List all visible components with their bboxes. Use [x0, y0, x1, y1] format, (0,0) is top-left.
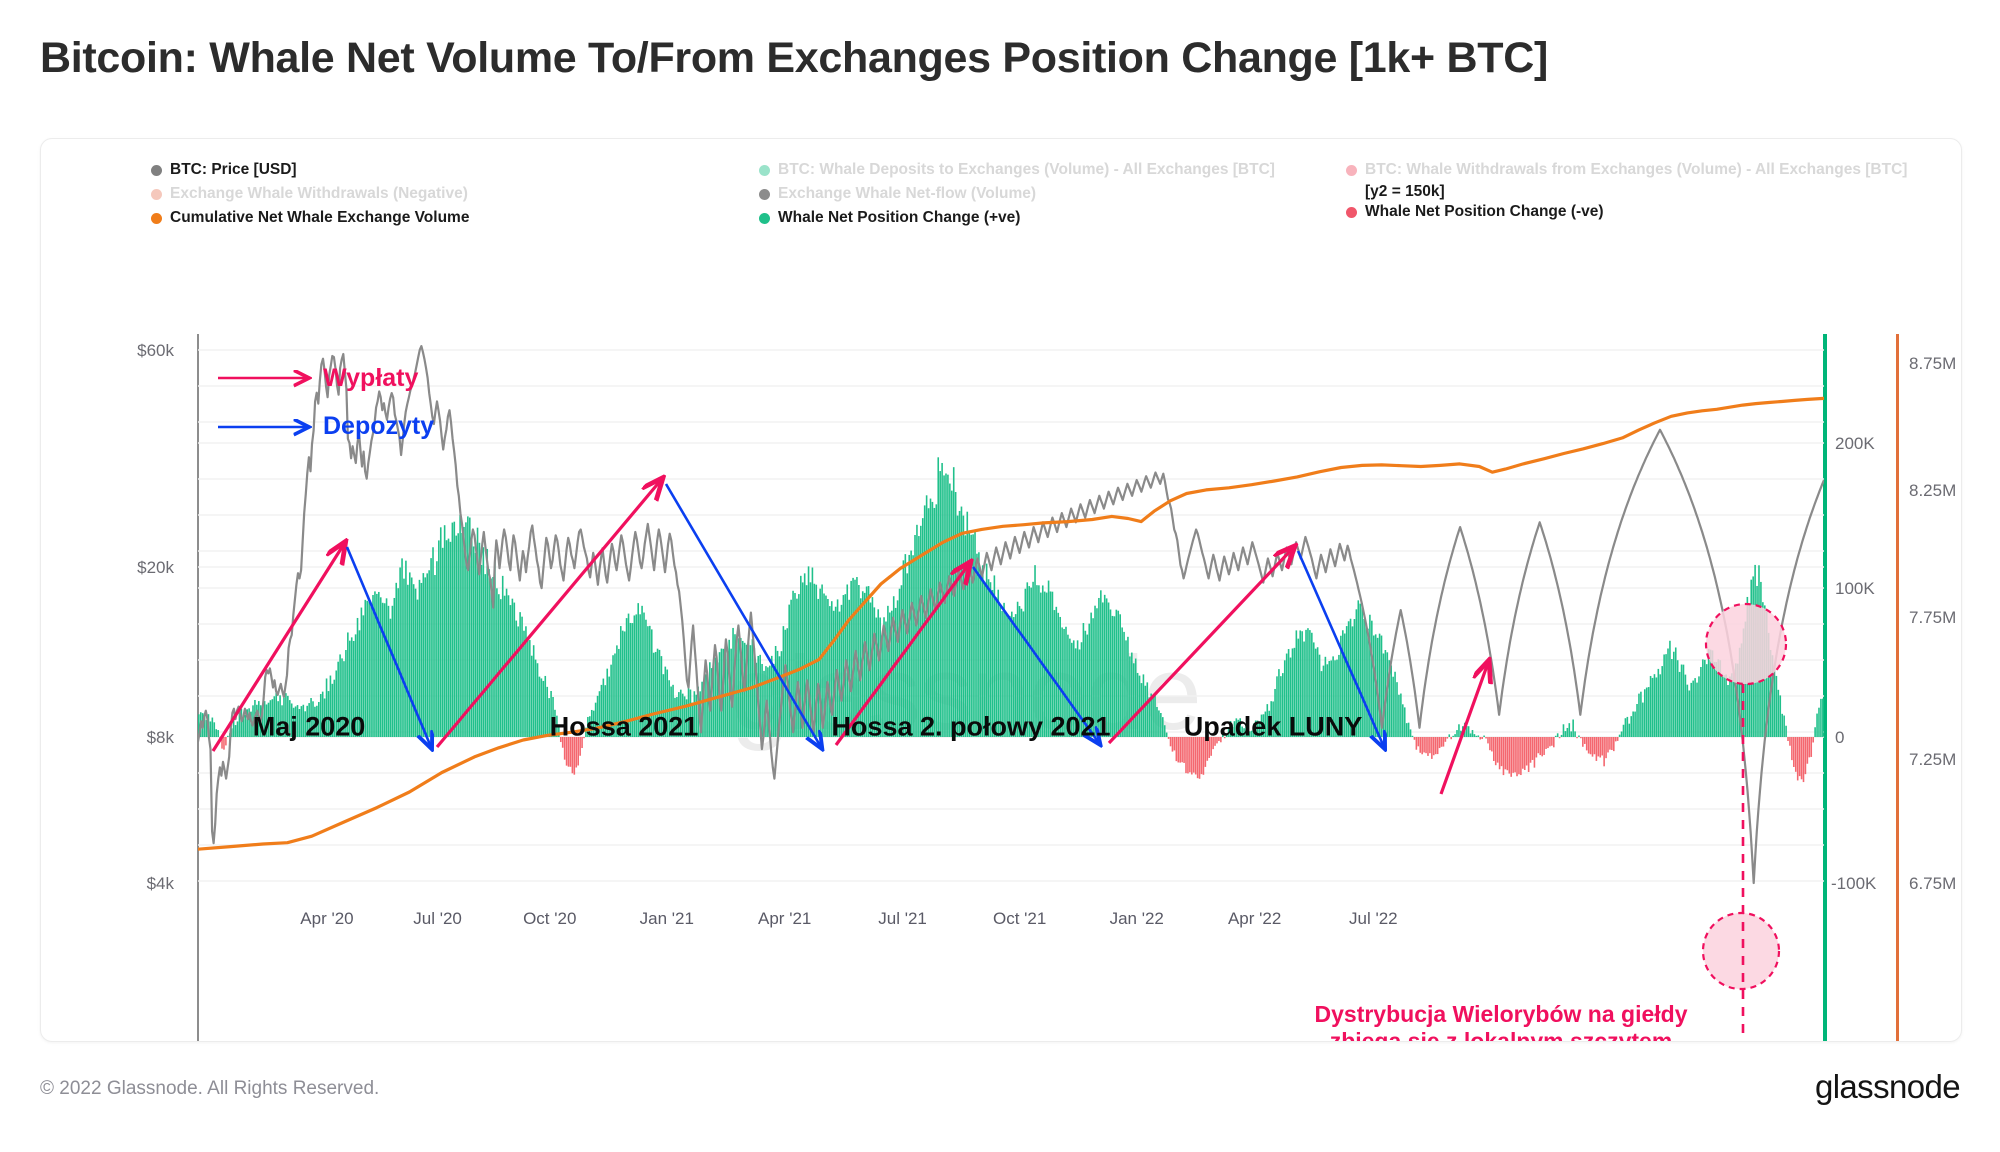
- chart-svg: [198, 334, 1824, 1042]
- legend-dot-whale-net-position-change-negative: [1346, 207, 1357, 218]
- y-tick-r2-1: 8.25M: [1909, 481, 1956, 501]
- legend-column-2: BTC: Whale Deposits to Exchanges (Volume…: [759, 159, 1275, 231]
- legend-dot-exchange-whale-netflow: [759, 189, 770, 200]
- legend-dot-whale-withdrawals: [1346, 165, 1357, 176]
- x-tick-4: Apr '21: [758, 909, 811, 929]
- annotation-key-label-withdrawals: Wypłaty: [323, 364, 418, 393]
- legend-item-whale-net-position-change-negative[interactable]: Whale Net Position Change (-ve): [1346, 201, 1907, 223]
- x-tick-1: Jul '20: [413, 909, 462, 929]
- legend-item-cumulative-net-whale-exchange-volume[interactable]: Cumulative Net Whale Exchange Volume: [151, 207, 469, 229]
- x-tick-7: Jan '22: [1110, 909, 1164, 929]
- y-tick-r1-1: 100K: [1835, 579, 1875, 599]
- copyright-text: © 2022 Glassnode. All Rights Reserved.: [40, 1078, 379, 1100]
- in-chart-label-3: Upadek LUNY: [1184, 712, 1363, 743]
- callout-annotation: Dystrybucja Wielorybów na giełdy zbiega …: [1251, 1001, 1751, 1042]
- legend-dot-whale-net-position-change-positive: [759, 213, 770, 224]
- legend-label-btc-price: BTC: Price [USD]: [170, 162, 297, 178]
- x-tick-5: Jul '21: [878, 909, 927, 929]
- legend-label-cumulative-net-whale-exchange-volume: Cumulative Net Whale Exchange Volume: [170, 210, 469, 226]
- legend-label-whale-withdrawals: BTC: Whale Withdrawals from Exchanges (V…: [1365, 162, 1907, 178]
- annotation-key-label-deposits: Depozyty: [323, 412, 434, 441]
- in-chart-label-1: Hossa 2021: [550, 712, 699, 743]
- legend-column-1: BTC: Price [USD] Exchange Whale Withdraw…: [151, 159, 469, 231]
- y-tick-r1-0: 200K: [1835, 434, 1875, 454]
- chart-card: BTC: Price [USD] Exchange Whale Withdraw…: [40, 138, 1962, 1042]
- y-tick-left-3: $4k: [147, 874, 174, 894]
- legend-item-exchange-whale-netflow[interactable]: Exchange Whale Net-flow (Volume): [759, 183, 1275, 205]
- annotation-key-arrows: [216, 354, 326, 494]
- y-axis-right-cumulative-line: [1896, 334, 1899, 1042]
- legend-item-whale-net-position-change-positive[interactable]: Whale Net Position Change (+ve): [759, 207, 1275, 229]
- in-chart-label-0: Maj 2020: [253, 712, 366, 743]
- y-tick-r2-2: 7.75M: [1909, 608, 1956, 628]
- x-tick-6: Oct '21: [993, 909, 1046, 929]
- x-tick-2: Oct '20: [523, 909, 576, 929]
- y-tick-r1-3: -100K: [1831, 874, 1876, 894]
- legend-item-exchange-whale-withdrawals[interactable]: Exchange Whale Withdrawals (Negative): [151, 183, 469, 205]
- brand-logo: glassnode: [1815, 1068, 1960, 1106]
- legend-dot-whale-deposits: [759, 165, 770, 176]
- in-chart-label-2: Hossa 2. połowy 2021: [831, 712, 1110, 743]
- legend-label-y2-scale: [y2 = 150k]: [1346, 183, 1907, 201]
- legend-column-3: BTC: Whale Withdrawals from Exchanges (V…: [1346, 159, 1907, 225]
- legend-label-exchange-whale-netflow: Exchange Whale Net-flow (Volume): [778, 186, 1036, 202]
- x-tick-8: Apr '22: [1228, 909, 1281, 929]
- y-tick-left-0: $60k: [137, 341, 174, 361]
- y-tick-r1-2: 0: [1835, 728, 1844, 748]
- x-tick-0: Apr '20: [300, 909, 353, 929]
- y-tick-r2-3: 7.25M: [1909, 750, 1956, 770]
- callout-line-1: Dystrybucja Wielorybów na giełdy: [1251, 1001, 1751, 1028]
- chart-legend: BTC: Price [USD] Exchange Whale Withdraw…: [41, 159, 1961, 231]
- legend-item-whale-deposits[interactable]: BTC: Whale Deposits to Exchanges (Volume…: [759, 159, 1275, 181]
- bars-negative: [219, 737, 1814, 782]
- legend-label-exchange-whale-withdrawals: Exchange Whale Withdrawals (Negative): [170, 186, 468, 202]
- bars-positive: [198, 457, 1824, 737]
- legend-label-whale-deposits: BTC: Whale Deposits to Exchanges (Volume…: [778, 162, 1275, 178]
- chart-plot-area: [198, 334, 1824, 1042]
- page-title: Bitcoin: Whale Net Volume To/From Exchan…: [40, 34, 1548, 83]
- callout-line-2: zbiega się z lokalnym szczytem: [1251, 1028, 1751, 1042]
- y-axis-left-ticks: $60k $20k $8k $4k: [41, 139, 188, 1041]
- legend-item-btc-price[interactable]: BTC: Price [USD]: [151, 159, 469, 181]
- legend-item-whale-withdrawals[interactable]: BTC: Whale Withdrawals from Exchanges (V…: [1346, 159, 1907, 181]
- y-tick-left-1: $20k: [137, 558, 174, 578]
- y-tick-r2-0: 8.75M: [1909, 354, 1956, 374]
- y-tick-r2-4: 6.75M: [1909, 874, 1956, 894]
- legend-label-whale-net-position-change-positive: Whale Net Position Change (+ve): [778, 210, 1020, 226]
- y-tick-left-2: $8k: [147, 728, 174, 748]
- x-tick-3: Jan '21: [640, 909, 694, 929]
- x-tick-9: Jul '22: [1349, 909, 1398, 929]
- legend-label-whale-net-position-change-negative: Whale Net Position Change (-ve): [1365, 204, 1604, 220]
